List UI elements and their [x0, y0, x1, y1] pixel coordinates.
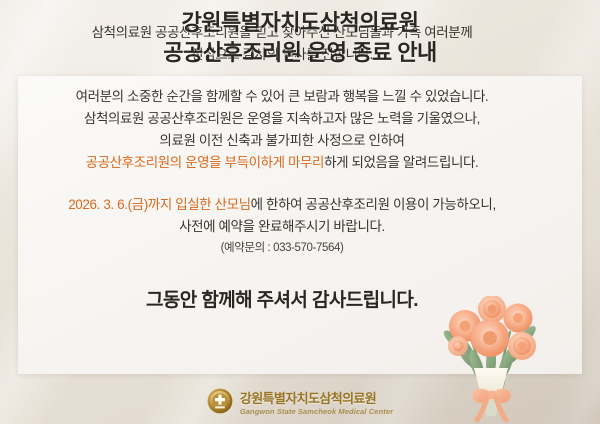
closure-rest-text: 하게 되었음을 알려드립니다. [324, 155, 478, 170]
notice-paragraph-2: 여러분의 소중한 순간을 함께할 수 있어 큰 보람과 행복을 느낄 수 있었습… [0, 86, 564, 174]
reservation-contact: (예약문의 : 033-570-7564) [0, 238, 564, 258]
medical-cross-seal-icon [207, 388, 233, 419]
footer-org-text: 강원특별자치도삼척의료원 Gangwon State Samcheok Medi… [240, 392, 393, 416]
poster-title-line-2: 공공산후조리원 운영 종료 안내 [0, 38, 600, 68]
closing-spacer [0, 272, 564, 286]
paragraph-2-line-4: 공공산후조리원의 운영을 부득이하게 마무리하게 되었음을 알려드립니다. [0, 152, 564, 174]
notice-poster: 강원특별자치도삼척의료원 공공산후조리원 운영 종료 안내 삼척의료원 공공산후… [0, 0, 600, 424]
notice-paragraph-3: 2026. 3. 6.(금)까지 입실한 산모님에 한하여 공공산후조리원 이용… [0, 194, 564, 258]
paragraph-2-line-2: 삼척의료원 공공산후조리원은 운영을 지속하고자 많은 노력을 기울였으나, [0, 108, 564, 130]
paragraph-3-line-1: 2026. 3. 6.(금)까지 입실한 산모님에 한하여 공공산후조리원 이용… [0, 194, 564, 216]
footer-org-en: Gangwon State Samcheok Medical Center [240, 408, 393, 416]
closure-highlight-text: 공공산후조리원의 운영을 부득이하게 마무리 [86, 155, 324, 170]
poster-header: 강원특별자치도삼척의료원 공공산후조리원 운영 종료 안내 [0, 8, 600, 68]
footer-org-ko: 강원특별자치도삼척의료원 [240, 392, 376, 405]
poster-title-line-1: 강원특별자치도삼척의료원 [0, 8, 600, 38]
paragraph-2-line-3: 의료원 이전 신축과 불가피한 사정으로 인하여 [0, 130, 564, 152]
deadline-rest-text: 에 한하여 공공산후조리원 이용이 가능하오니, [251, 197, 496, 212]
paragraph-3-line-2: 사전에 예약을 완료해주시기 바랍니다. [0, 216, 564, 238]
closing-message: 그동안 함께해 주셔서 감사드립니다. [0, 286, 564, 316]
deadline-highlight-text: 2026. 3. 6.(금)까지 입실한 산모님 [68, 197, 250, 212]
footer-logo: 강원특별자치도삼척의료원 Gangwon State Samcheok Medi… [0, 388, 600, 419]
paragraph-2-line-1: 여러분의 소중한 순간을 함께할 수 있어 큰 보람과 행복을 느낄 수 있었습… [0, 86, 564, 108]
